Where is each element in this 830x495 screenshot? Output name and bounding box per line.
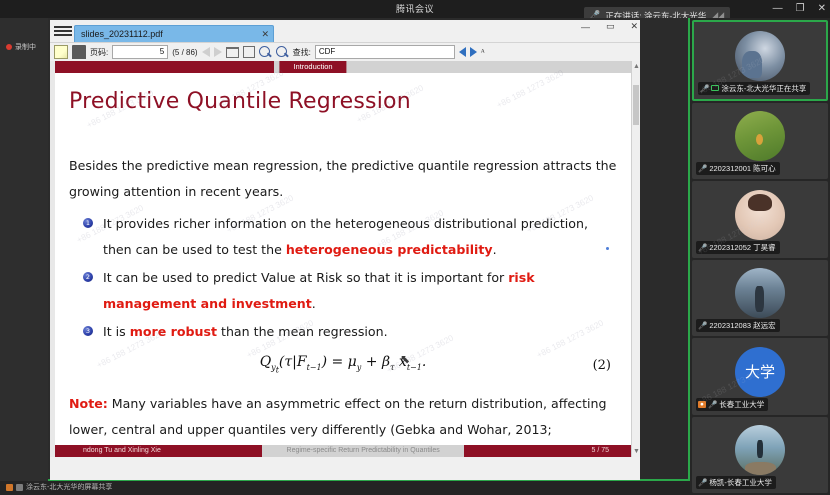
mic-on-icon: 🎤: [700, 84, 709, 93]
copy-icon[interactable]: [54, 45, 68, 59]
avatar: [735, 111, 785, 161]
back-arrow-icon[interactable]: [202, 47, 210, 57]
mic-muted-icon: 🎤: [698, 478, 707, 487]
participant-name: 2202312001 陈可心: [709, 163, 775, 174]
fit-page-icon[interactable]: [243, 46, 255, 58]
slide-body: Besides the predictive mean regression, …: [69, 153, 617, 457]
avatar: [735, 425, 785, 475]
print-icon[interactable]: [72, 45, 86, 59]
page-number-input[interactable]: 5: [112, 45, 168, 59]
participant-label: 🎤 2202312083 赵远宏: [696, 319, 780, 332]
avatar: [735, 31, 785, 81]
minimize-icon[interactable]: —: [773, 4, 783, 14]
bullet-number-icon: 2: [83, 272, 93, 282]
meeting-window: 腾讯会议 — ❐ ✕ 🎤 正在讲话: 涂云东-北大光华 ◢◢ 录制中 涂云东-北…: [0, 0, 830, 495]
slide-bullet-list: 1 It provides richer information on the …: [81, 211, 617, 345]
mic-muted-icon: 🎤: [698, 243, 707, 252]
pdf-close-icon[interactable]: ✕: [630, 21, 638, 32]
match-case-icon[interactable]: ᴬ: [481, 47, 485, 57]
close-icon[interactable]: ✕: [818, 4, 826, 14]
participants-panel: 🎤 涂云东-北大光华正在共享 🎤 2202312001 陈可心 🎤 220231…: [690, 18, 830, 495]
hamburger-icon[interactable]: [54, 22, 72, 40]
left-rail: 录制中: [0, 18, 48, 495]
pdf-viewer-window: slides_20231112.pdf ✕ — ▭ ✕ 页码: 5 (5 / 8…: [50, 20, 640, 480]
pdf-toolbar: 页码: 5 (5 / 86) 查找: CDF ᴬ: [50, 42, 640, 61]
slide-footer-authors: ndong Tu and Xinling Xie: [55, 445, 262, 457]
pdf-minimize-icon[interactable]: —: [581, 22, 590, 32]
mouse-cursor: ⬉: [400, 353, 409, 366]
equation-row: Qyt(τ|Ft−1) = μy + βτ xt−1. (2): [69, 349, 617, 383]
pdf-tab-title: slides_20231112.pdf: [81, 29, 163, 39]
slide-footer: ndong Tu and Xinling Xie Regime-specific…: [55, 445, 631, 457]
bullet-item-1: 1 It provides richer information on the …: [81, 211, 617, 263]
mic-muted-icon: 🎤: [698, 164, 707, 173]
mic-muted-icon: 🎤: [698, 321, 707, 330]
participant-tile-5[interactable]: 大学 ● 🎤 长春工业大学: [692, 338, 828, 415]
participant-label: 🎤 2202312052 丁昊睿: [696, 241, 780, 254]
avatar: 大学: [735, 347, 785, 397]
bullet-text-before: It can be used to predict Value at Risk …: [103, 270, 508, 285]
pdf-maximize-icon[interactable]: ▭: [606, 21, 615, 32]
bullet-text-before: It is: [103, 324, 130, 339]
share-status-text: 涂云东-北大光华的屏幕共享: [26, 482, 112, 492]
avatar: [735, 190, 785, 240]
slide-footer-page: 5 / 75: [464, 445, 631, 457]
pdf-document-tab[interactable]: slides_20231112.pdf ✕: [74, 25, 274, 42]
scroll-up-icon[interactable]: ▲: [633, 62, 640, 71]
bullet-item-2: 2 It can be used to predict Value at Ris…: [81, 265, 617, 317]
slide-section-header: Introduction: [55, 61, 631, 73]
participant-tile-3[interactable]: 🎤 2202312052 丁昊睿: [692, 181, 828, 258]
bullet-highlight: more robust: [130, 324, 217, 339]
bullet-item-3: 3 It is more robust than the mean regres…: [81, 319, 617, 345]
participant-tile-2[interactable]: 🎤 2202312001 陈可心: [692, 103, 828, 180]
recording-label: 录制中: [15, 42, 36, 52]
pdf-page-viewport: Introduction Predictive Quantile Regress…: [50, 61, 640, 457]
participant-tile-1[interactable]: 🎤 涂云东-北大光华正在共享: [692, 20, 828, 101]
mic-muted-icon: 🎤: [708, 400, 717, 409]
tab-close-icon[interactable]: ✕: [245, 29, 269, 40]
bullet-number-icon: 3: [83, 326, 93, 336]
meeting-window-controls: — ❐ ✕: [773, 0, 826, 18]
pdf-window-controls: — ▭ ✕: [581, 21, 638, 32]
slide-section-tab: Introduction: [279, 61, 346, 73]
slide-title: Predictive Quantile Regression: [69, 89, 411, 114]
page-number-label: 页码:: [90, 47, 108, 58]
note-label: Note:: [69, 396, 108, 411]
fit-width-icon[interactable]: [226, 47, 239, 58]
participant-name: 2202312083 赵远宏: [709, 320, 775, 331]
scroll-down-icon[interactable]: ▼: [633, 447, 640, 456]
participant-label: 🎤 杨凯-长春工业大学: [696, 476, 776, 489]
camera-icon: [711, 85, 719, 91]
screen-icon: [16, 484, 23, 491]
slide-intro-paragraph: Besides the predictive mean regression, …: [69, 153, 617, 205]
host-badge-icon: ●: [698, 401, 706, 408]
slide-footer-title: Regime-specific Return Predictability in…: [262, 445, 464, 457]
watermark: +86 188 1273 3620: [495, 68, 565, 110]
slide-page: Introduction Predictive Quantile Regress…: [55, 61, 631, 457]
find-label: 查找:: [293, 47, 311, 58]
participant-name: 涂云东-北大光华正在共享: [721, 83, 806, 94]
zoom-in-icon[interactable]: [276, 46, 289, 59]
share-icon: [6, 484, 13, 491]
bullet-text-after: .: [493, 242, 497, 257]
bullet-text-after: .: [312, 296, 316, 311]
maximize-icon[interactable]: ❐: [796, 4, 805, 14]
recording-dot-icon: [6, 44, 12, 50]
forward-arrow-icon[interactable]: [214, 47, 222, 57]
avatar-text: 大学: [745, 361, 775, 382]
participant-label: 🎤 涂云东-北大光华正在共享: [698, 82, 810, 95]
participant-name: 2202312052 丁昊睿: [709, 242, 775, 253]
bullet-text-after: than the mean regression.: [217, 324, 388, 339]
page-total-label: (5 / 86): [172, 48, 197, 57]
participant-label: ● 🎤 长春工业大学: [696, 398, 768, 411]
participant-tile-4[interactable]: 🎤 2202312083 赵远宏: [692, 260, 828, 337]
participant-tile-6[interactable]: 🎤 杨凯-长春工业大学: [692, 417, 828, 494]
bullet-number-icon: 1: [83, 218, 93, 228]
zoom-out-icon[interactable]: [259, 46, 272, 59]
laser-pointer-dot: [606, 247, 609, 250]
pdf-titlebar: slides_20231112.pdf ✕ — ▭ ✕: [50, 20, 640, 42]
page-scrollbar[interactable]: ▲ ▼: [631, 61, 640, 457]
bullet-highlight: heterogeneous predictability: [286, 242, 493, 257]
find-input[interactable]: CDF: [315, 45, 455, 59]
participant-name: 长春工业大学: [719, 399, 764, 410]
share-status-bar: 涂云东-北大光华的屏幕共享: [0, 481, 690, 495]
participant-name: 杨凯-长春工业大学: [709, 477, 772, 488]
find-next-icon[interactable]: [470, 47, 477, 57]
scrollbar-thumb[interactable]: [633, 85, 639, 125]
participant-label: 🎤 2202312001 陈可心: [696, 162, 780, 175]
avatar: [735, 268, 785, 318]
share-status-label: 涂云东-北大光华的屏幕共享: [6, 482, 112, 492]
recording-indicator[interactable]: 录制中: [6, 42, 36, 52]
find-prev-icon[interactable]: [459, 47, 466, 57]
equation-number: (2): [593, 353, 611, 379]
